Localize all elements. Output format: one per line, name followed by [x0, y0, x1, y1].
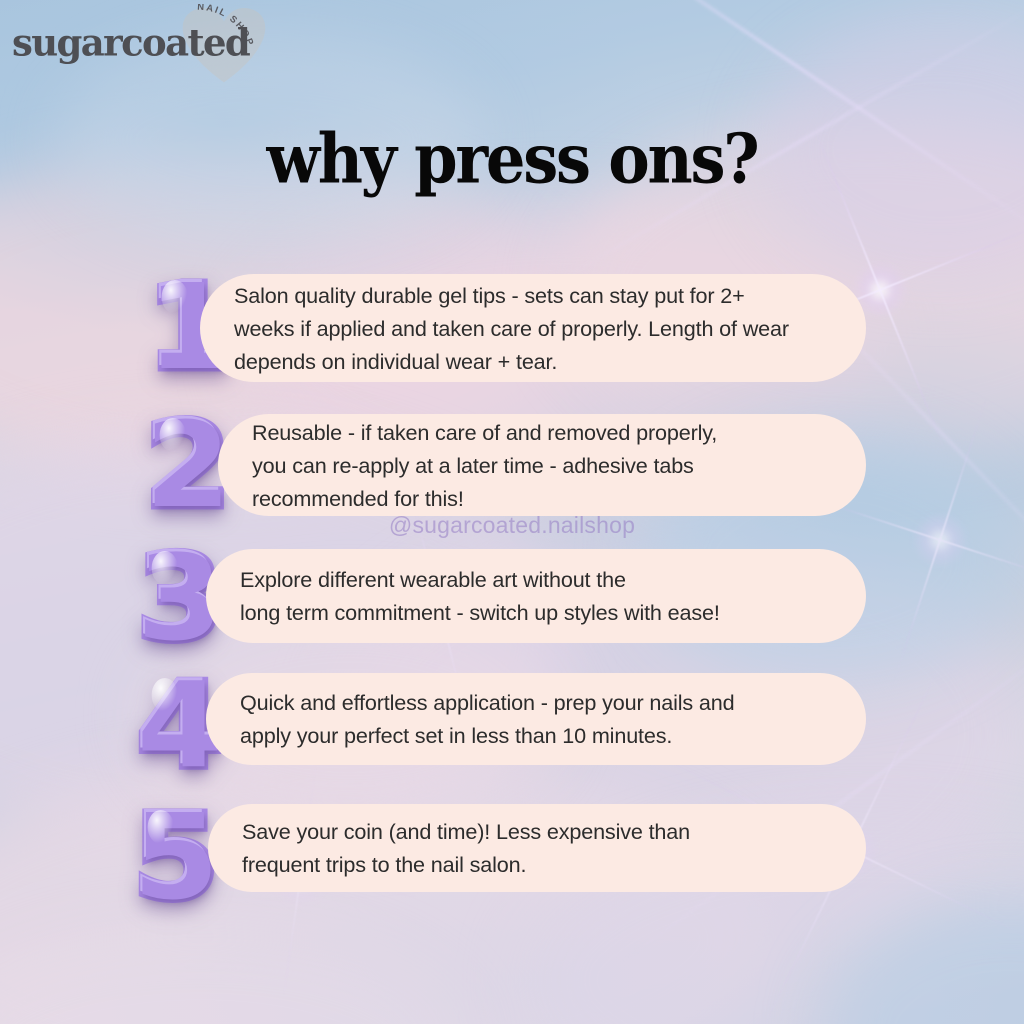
list-item-line: weeks if applied and taken care of prope…: [234, 312, 826, 345]
list-item-line: Reusable - if taken care of and removed …: [252, 416, 826, 449]
benefits-list: 1 Salon quality durable gel tips - sets …: [0, 0, 1024, 1024]
list-item-line: Explore different wearable art without t…: [240, 563, 826, 596]
list-item-line: depends on individual wear + tear.: [234, 345, 826, 378]
list-item-line: apply your perfect set in less than 10 m…: [240, 719, 826, 752]
list-item-line: recommended for this!: [252, 482, 826, 515]
poster-canvas: NAIL SHOP sugarcoated why press ons? 1 S…: [0, 0, 1024, 1024]
list-item-pill: Salon quality durable gel tips - sets ca…: [200, 274, 866, 382]
list-item-line: long term commitment - switch up styles …: [240, 596, 826, 629]
list-item-line: Salon quality durable gel tips - sets ca…: [234, 279, 826, 312]
list-item-pill: Reusable - if taken care of and removed …: [218, 414, 866, 516]
list-item-pill: Save your coin (and time)! Less expensiv…: [208, 804, 866, 892]
list-item-line: frequent trips to the nail salon.: [242, 848, 826, 881]
list-item-pill: Explore different wearable art without t…: [206, 549, 866, 643]
list-item-line: Save your coin (and time)! Less expensiv…: [242, 815, 826, 848]
list-item-line: Quick and effortless application - prep …: [240, 686, 826, 719]
list-item-pill: Quick and effortless application - prep …: [206, 673, 866, 765]
list-item-line: you can re-apply at a later time - adhes…: [252, 449, 826, 482]
